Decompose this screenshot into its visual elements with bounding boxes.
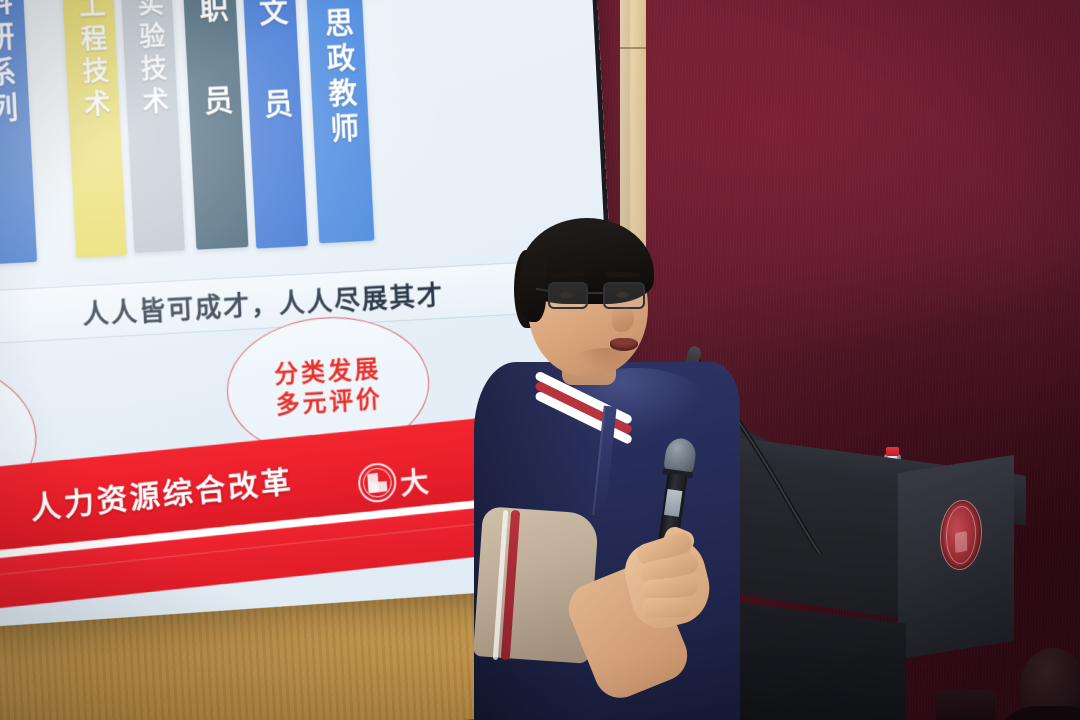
speaker-person	[470, 210, 800, 720]
slide-column-label: 工程技术	[73, 0, 108, 123]
slide-red-band-text: 人力资源综合改革	[28, 456, 295, 527]
audience-chair	[936, 690, 996, 720]
slide-column-label: 科研系列	[0, 0, 16, 129]
slide-column-label: 职员	[194, 0, 234, 178]
collar-stripe-red	[534, 380, 633, 435]
eyeglass-bridge	[588, 292, 603, 294]
lectern-emblem-core	[955, 531, 967, 553]
slide-column: 科研系列	[0, 0, 37, 265]
slide-seal-label: 大	[398, 458, 431, 504]
eyeglass-lens-left	[548, 282, 588, 309]
slide-column: 文员	[243, 0, 308, 249]
wall-pilaster-seam	[620, 47, 646, 49]
university-seal-icon	[357, 461, 398, 504]
speaker-finger-4	[642, 598, 692, 617]
slide-column: 思政教师	[307, 0, 375, 243]
slide-column: 工程技术	[62, 0, 127, 258]
slide-ellipse-right-line2: 多元评价	[275, 384, 383, 421]
photo-scene: 思政队伍 常规体系 升重型／教学系列 科研系列 工程技术 实验技术	[0, 0, 1080, 720]
seal-glyph	[367, 472, 388, 493]
slide-column-label: 实验技术	[132, 0, 167, 120]
slide-column: 职员	[183, 0, 249, 250]
water-bottle-cap	[886, 447, 899, 456]
slide-column: 实验技术	[120, 0, 185, 253]
speaker-chin-shadow	[574, 348, 636, 370]
eyeglasses-icon	[548, 282, 652, 312]
slide-column-label: 思政教师	[319, 0, 357, 149]
slide-column-label: 文员	[254, 0, 294, 181]
eyeglass-lens-right	[603, 282, 645, 309]
